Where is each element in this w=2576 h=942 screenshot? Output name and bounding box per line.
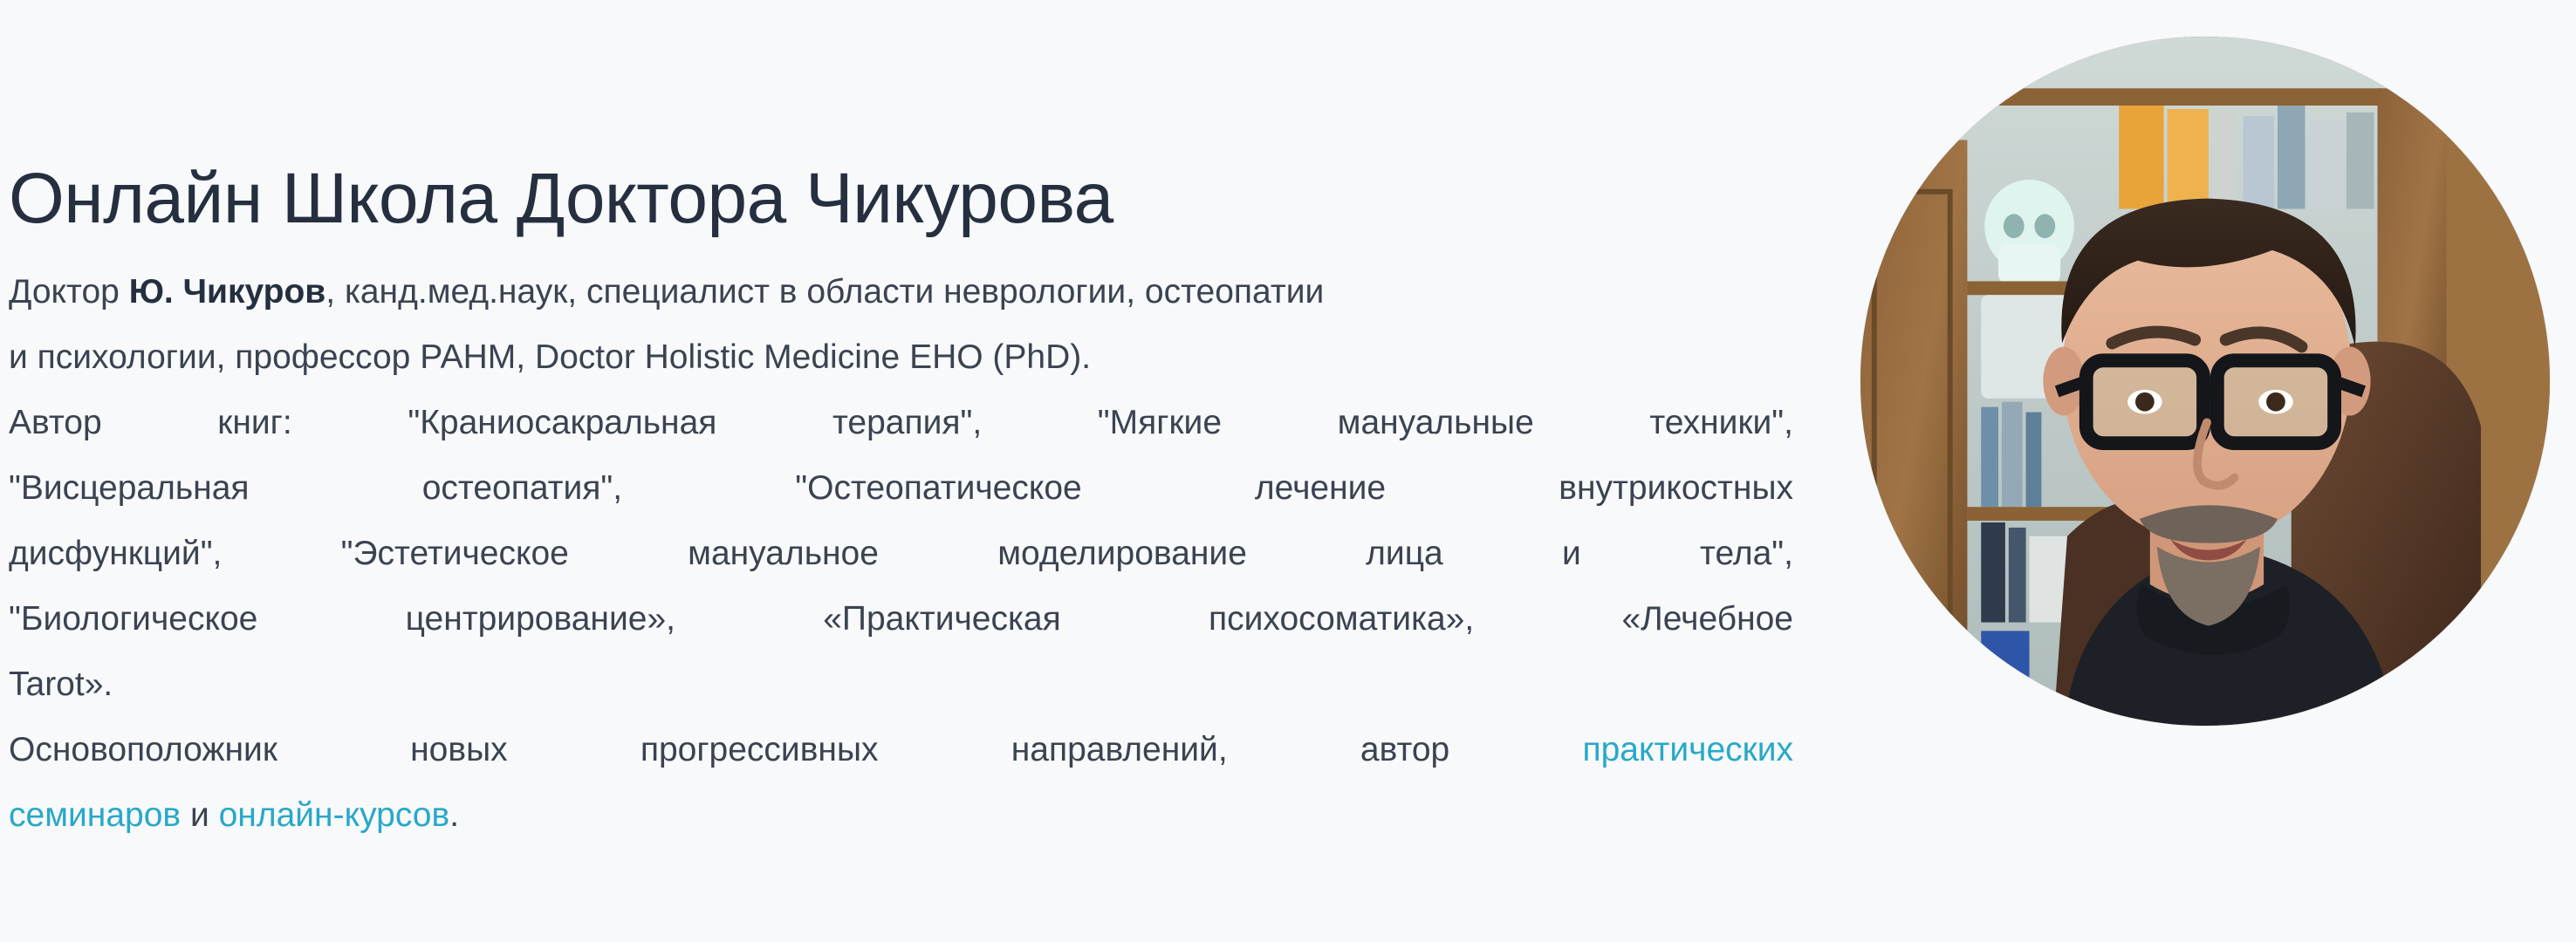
bio-intro-suffix: , канд.мед.наук, специалист в области не… [325, 273, 1324, 311]
founder-period: . [449, 796, 459, 834]
page-title: Онлайн Школа Доктора Чикурова [9, 161, 1798, 236]
books-line-4: "Биологическое центрирование», «Практиче… [9, 586, 1793, 652]
founder-line-1: Основоположник новых прогрессивных напра… [9, 717, 1793, 782]
link-seminars[interactable]: семинаров [9, 796, 181, 834]
link-online-courses[interactable]: онлайн-курсов [219, 796, 450, 834]
hero-text-column: Онлайн Школа Доктора Чикурова Доктор Ю. … [0, 0, 1798, 848]
hero-section: Онлайн Школа Доктора Чикурова Доктор Ю. … [0, 0, 2576, 942]
link-practical-seminars-part1[interactable]: практических [1582, 731, 1793, 768]
avatar [1860, 37, 2550, 726]
bio-intro-line2-text: и психологии, профессор РАНМ, Doctor Hol… [9, 338, 1091, 376]
bio-books-paragraph: Автор книг: "Краниосакральная терапия", … [9, 390, 1793, 717]
founder-conjunction: и [181, 796, 218, 834]
portrait-photo-illustration [1860, 37, 2550, 726]
doctor-name: Ю. Чикуров [129, 273, 326, 311]
bio-intro-paragraph: Доктор Ю. Чикуров, канд.мед.наук, специа… [9, 259, 1793, 324]
founder-line1-text: Основоположник новых прогрессивных напра… [9, 731, 1449, 768]
bio-intro-prefix: Доктор [9, 273, 129, 311]
founder-line-2: семинаров и онлайн-курсов. [9, 782, 1793, 848]
books-line-1: Автор книг: "Краниосакральная терапия", … [9, 390, 1793, 455]
books-line-5: Tarot». [9, 652, 1793, 717]
books-line-2: "Висцеральная остеопатия", "Остеопатичес… [9, 455, 1793, 521]
books-line-3: дисфункций", "Эстетическое мануальное мо… [9, 521, 1793, 586]
bio-intro-line-2: и психологии, профессор РАНМ, Doctor Hol… [9, 324, 1793, 390]
bio-block: Доктор Ю. Чикуров, канд.мед.наук, специа… [9, 259, 1793, 848]
hero-photo-column [1860, 37, 2550, 726]
bio-founder-paragraph: Основоположник новых прогрессивных напра… [9, 717, 1793, 848]
